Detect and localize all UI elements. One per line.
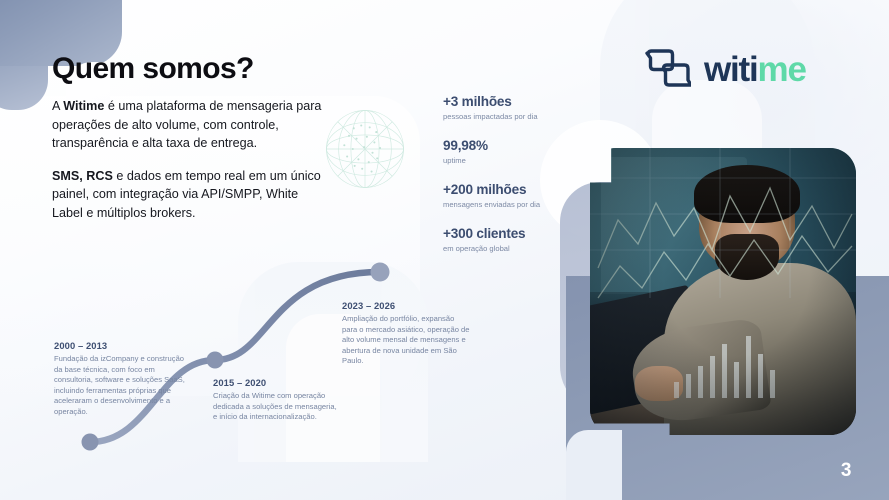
intro-paragraph-2: SMS, RCS e dados em tempo real em um úni… — [52, 167, 322, 223]
stat-item-uptime: 99,98% uptime — [443, 138, 578, 166]
timeline-item-2000-2013: 2000 – 2013 Fundação da izCompany e cons… — [54, 340, 194, 418]
intro-paragraph-1: A Witime é uma plataforma de mensageria … — [52, 97, 322, 153]
timeline-item-2015-2020: 2015 – 2020 Criação da Witime com operaç… — [213, 377, 338, 423]
logo-word-dark: witi — [704, 50, 758, 89]
timeline-description: Ampliação do portfólio, expansão para o … — [342, 314, 470, 367]
photo-vignette — [590, 148, 856, 435]
page-number: 3 — [841, 460, 852, 482]
hero-photo — [590, 148, 856, 435]
timeline-node-3 — [371, 263, 390, 282]
page-title: Quem somos? — [52, 52, 254, 86]
timeline-period: 2015 – 2020 — [213, 377, 338, 388]
timeline-node-2 — [207, 352, 224, 369]
stat-value: +300 clientes — [443, 226, 578, 242]
intro-p1-prefix: A — [52, 99, 63, 113]
stat-value: 99,98% — [443, 138, 578, 154]
chat-bubbles-icon — [645, 48, 691, 90]
globe-wireframe-icon — [318, 102, 412, 196]
stat-item-messages: +200 milhões mensagens enviadas por dia — [443, 182, 578, 210]
intro-p2-channels: SMS, RCS — [52, 169, 113, 183]
witime-logo: witime — [645, 48, 806, 90]
hero-photo-frame — [590, 148, 856, 435]
intro-p1-brand: Witime — [63, 99, 104, 113]
timeline-node-1 — [82, 434, 99, 451]
timeline-item-2023-2026: 2023 – 2026 Ampliação do portfólio, expa… — [342, 300, 470, 367]
logo-wordmark: witime — [704, 52, 806, 87]
logo-word-mint: me — [758, 50, 806, 89]
stat-value: +3 milhões — [443, 94, 578, 110]
timeline-description: Fundação da izCompany e construção da ba… — [54, 354, 194, 418]
intro-text-block: A Witime é uma plataforma de mensageria … — [52, 97, 322, 237]
stat-label: em operação global — [443, 243, 578, 254]
stat-label: mensagens enviadas por dia — [443, 199, 578, 210]
timeline-period: 2000 – 2013 — [54, 340, 194, 351]
stat-item-reach: +3 milhões pessoas impactadas por dia — [443, 94, 578, 122]
timeline-description: Criação da Witime com operação dedicada … — [213, 391, 338, 423]
stat-value: +200 milhões — [443, 182, 578, 198]
bottom-panel-notch — [566, 430, 622, 500]
stat-label: pessoas impactadas por dia — [443, 111, 578, 122]
stat-item-clients: +300 clientes em operação global — [443, 226, 578, 254]
slide-canvas: Quem somos? A Witime é uma plataforma de… — [0, 0, 889, 500]
stat-label: uptime — [443, 155, 578, 166]
timeline-period: 2023 – 2026 — [342, 300, 470, 311]
stats-list: +3 milhões pessoas impactadas por dia 99… — [443, 94, 578, 270]
